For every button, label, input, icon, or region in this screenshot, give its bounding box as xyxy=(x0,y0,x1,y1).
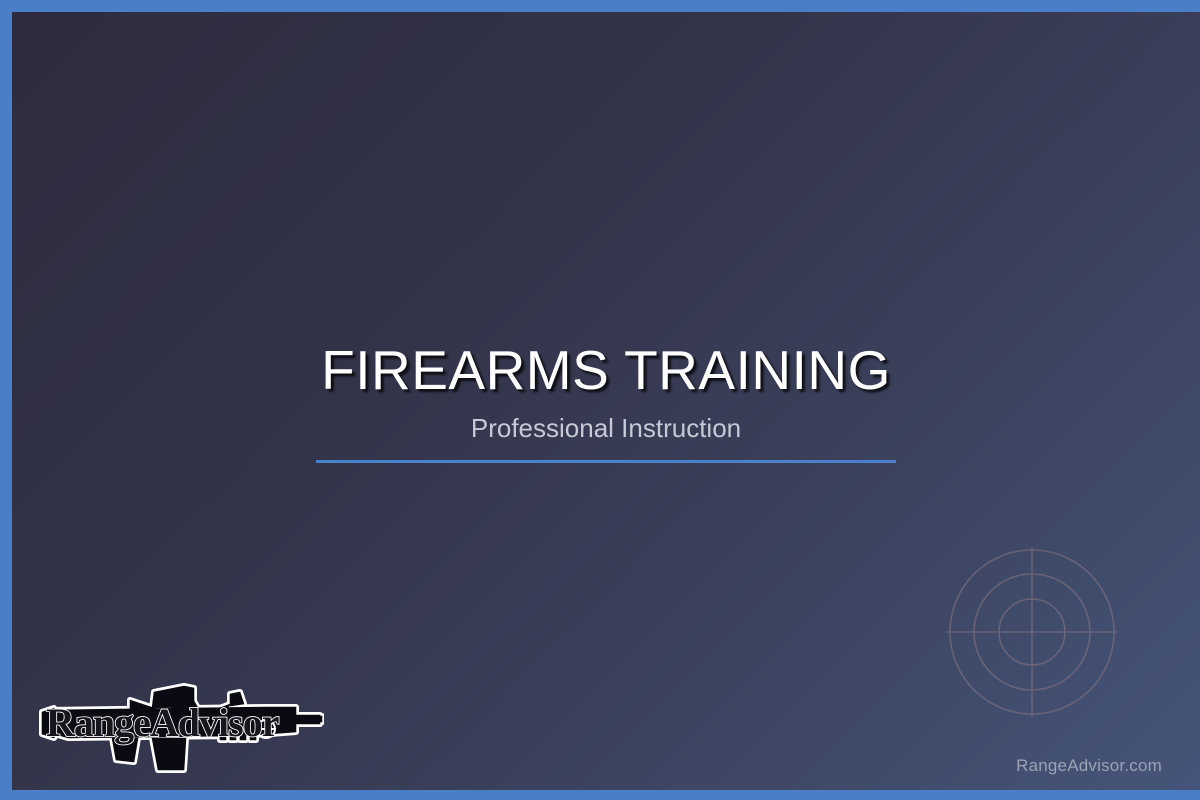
title-block: FIREARMS TRAINING Professional Instructi… xyxy=(12,342,1200,463)
footer-website-url: RangeAdvisor.com xyxy=(1016,756,1162,776)
page-title: FIREARMS TRAINING xyxy=(12,342,1200,400)
page-subtitle: Professional Instruction xyxy=(12,414,1200,443)
logo-wordmark: RangeAdvisor xyxy=(46,700,279,745)
presentation-slide: FIREARMS TRAINING Professional Instructi… xyxy=(0,0,1200,800)
accent-divider xyxy=(316,460,896,463)
crosshair-target-icon xyxy=(933,533,1133,733)
slide-canvas: FIREARMS TRAINING Professional Instructi… xyxy=(12,12,1200,790)
rangeadvisor-logo[interactable]: RangeAdvisor xyxy=(34,674,324,774)
